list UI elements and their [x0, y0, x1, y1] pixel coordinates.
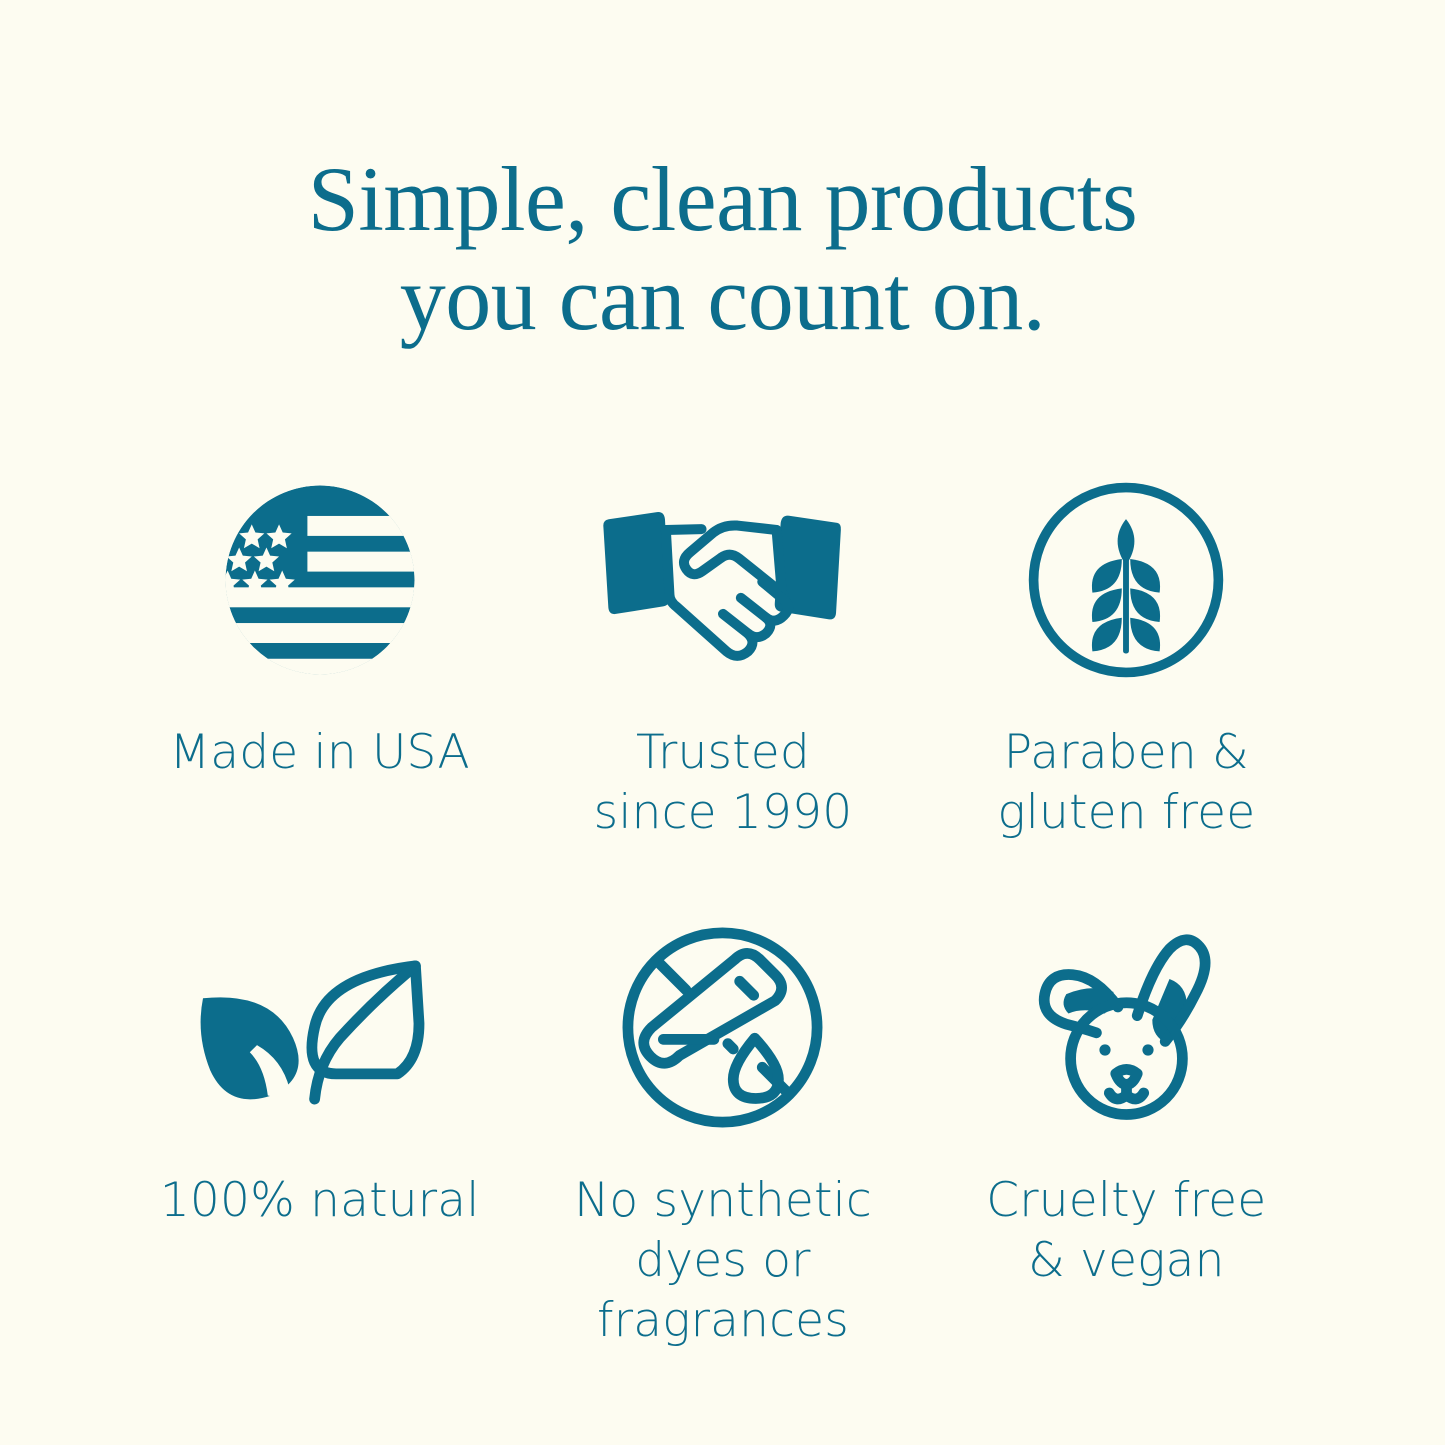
- no-test-tube-icon: [615, 903, 830, 1153]
- badge-label: Paraben & gluten free: [997, 723, 1255, 843]
- badge-label: Cruelty free & vegan: [986, 1171, 1266, 1291]
- badge-label: Made in USA: [170, 723, 470, 783]
- badge-no-synthetic-dyes: No synthetic dyes or fragrances: [521, 903, 924, 1351]
- usa-flag-circle-icon: [215, 455, 425, 705]
- badge-label: No synthetic dyes or fragrances: [574, 1171, 872, 1351]
- two-leaves-icon: [185, 903, 455, 1153]
- page-title: Simple, clean products you can count on.: [0, 150, 1445, 349]
- badge-paraben-gluten-free: Paraben & gluten free: [925, 455, 1328, 903]
- badge-grid: Made in USA: [118, 455, 1328, 1351]
- badge-label: 100% natural: [160, 1171, 480, 1231]
- badge-label: Trusted since 1990: [594, 723, 853, 843]
- handshake-icon: [598, 455, 848, 705]
- badge-made-in-usa: Made in USA: [118, 455, 521, 903]
- page-title-line-1: Simple, clean products: [0, 150, 1445, 249]
- badge-cruelty-free-vegan: Cruelty free & vegan: [925, 903, 1328, 1351]
- badge-100-natural: 100% natural: [118, 903, 521, 1351]
- wheat-stalk-circle-icon: [1021, 455, 1231, 705]
- page-title-line-2: you can count on.: [0, 249, 1445, 348]
- badge-trusted-since: Trusted since 1990: [521, 455, 924, 903]
- marketing-badge-panel: Simple, clean products you can count on.: [0, 0, 1445, 1445]
- rabbit-head-icon: [1019, 903, 1234, 1153]
